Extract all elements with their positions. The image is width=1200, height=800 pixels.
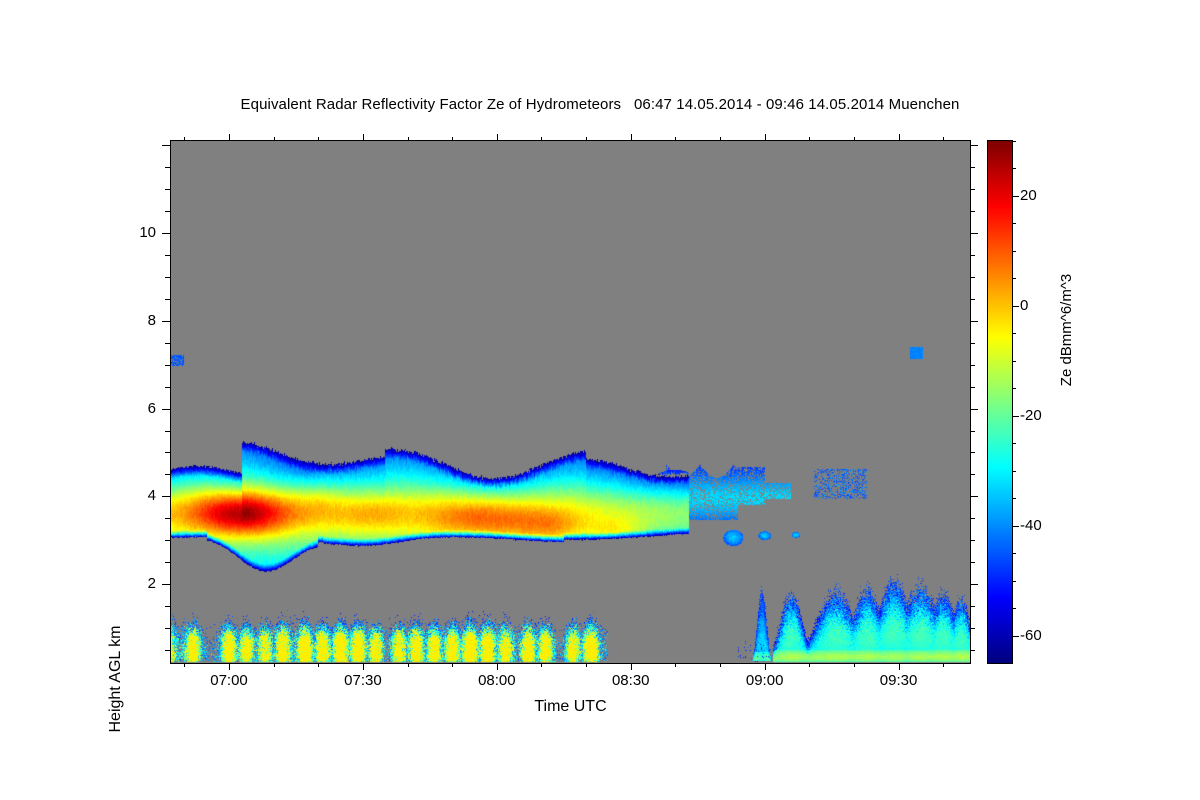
x-axis-minor-tick [586,137,587,141]
colorbar-minor-tick [1012,278,1016,279]
colorbar-minor-tick [1012,141,1016,142]
x-axis-minor-tick [318,137,319,141]
y-axis-minor-tick [970,452,975,453]
colorbar-tick-label: -60 [1020,627,1080,644]
y-axis-minor-tick [970,299,975,300]
x-axis-major-tick [497,134,498,141]
x-axis-major-tick [363,134,364,141]
y-axis-major-tick [162,233,170,234]
y-axis-major-tick [162,409,170,410]
y-axis-minor-tick [165,628,170,629]
y-axis-minor-tick [165,452,170,453]
y-axis-minor-tick [165,277,170,278]
y-axis-tick-label: 6 [116,400,156,417]
x-axis-minor-tick [675,137,676,141]
x-axis-major-tick [631,134,632,141]
y-axis-minor-tick [970,431,975,432]
y-axis-major-tick [970,496,978,497]
x-axis-minor-tick [809,137,810,141]
x-axis-minor-tick [318,663,319,667]
y-axis-minor-tick [970,255,975,256]
y-axis-title: Height AGL km [107,579,125,779]
x-axis-tick-label: 08:00 [452,672,542,689]
y-axis-minor-tick [970,277,975,278]
radar-heatmap-plot [170,140,971,664]
y-axis-minor-tick [970,474,975,475]
colorbar-minor-tick [1012,388,1016,389]
x-axis-major-tick [899,134,900,141]
y-axis-minor-tick [165,343,170,344]
y-axis-minor-tick [970,343,975,344]
y-axis-minor-tick [165,518,170,519]
y-axis-tick-label: 8 [116,312,156,329]
x-axis-tick-label: 09:00 [720,672,810,689]
x-axis-minor-tick [943,663,944,667]
y-axis-minor-tick [165,431,170,432]
y-axis-minor-tick [970,365,975,366]
x-axis-major-tick [899,663,900,670]
y-axis-minor-tick [165,540,170,541]
colorbar-major-tick [1012,636,1019,637]
x-axis-minor-tick [675,663,676,667]
y-axis-minor-tick [165,387,170,388]
x-axis-major-tick [765,663,766,670]
colorbar-minor-tick [1012,553,1016,554]
x-axis-minor-tick [274,137,275,141]
x-axis-minor-tick [452,137,453,141]
x-axis-tick-label: 08:30 [586,672,676,689]
colorbar-minor-tick [1012,168,1016,169]
y-axis-major-tick [970,321,978,322]
colorbar-major-tick [1012,196,1019,197]
y-axis-minor-tick [165,474,170,475]
colorbar-title: Ze dBmm^6/m^3 [1058,200,1075,460]
x-axis-minor-tick [720,663,721,667]
x-axis-minor-tick [541,663,542,667]
x-axis-tick-label: 07:00 [184,672,274,689]
x-axis-major-tick [229,663,230,670]
x-axis-major-tick [765,134,766,141]
y-axis-minor-tick [970,518,975,519]
colorbar-minor-tick [1012,443,1016,444]
y-axis-minor-tick [165,255,170,256]
y-axis-minor-tick [970,387,975,388]
x-axis-minor-tick [274,663,275,667]
x-axis-minor-tick [854,663,855,667]
colorbar-gradient [988,141,1012,663]
y-axis-minor-tick [970,650,975,651]
colorbar-tick-label: -40 [1020,517,1080,534]
colorbar-major-tick [1012,306,1019,307]
x-axis-minor-tick [854,137,855,141]
y-axis-major-tick [970,409,978,410]
heatmap-canvas [171,141,970,663]
y-axis-tick-label: 4 [116,487,156,504]
x-axis-tick-label: 07:30 [318,672,408,689]
y-axis-minor-tick [970,540,975,541]
x-axis-minor-tick [809,663,810,667]
colorbar-minor-tick [1012,251,1016,252]
x-axis-major-tick [363,663,364,670]
y-axis-tick-label: 10 [116,224,156,241]
y-axis-minor-tick [970,167,975,168]
y-axis-major-tick [162,496,170,497]
x-axis-minor-tick [408,137,409,141]
chart-title: Equivalent Radar Reflectivity Factor Ze … [0,96,1200,113]
x-axis-minor-tick [586,663,587,667]
x-axis-minor-tick [541,137,542,141]
x-axis-title: Time UTC [170,698,971,716]
y-axis-minor-tick [970,189,975,190]
colorbar-major-tick [1012,526,1019,527]
y-axis-major-tick [970,145,978,146]
colorbar-minor-tick [1012,333,1016,334]
x-axis-minor-tick [943,137,944,141]
colorbar-minor-tick [1012,581,1016,582]
y-axis-major-tick [162,321,170,322]
colorbar-major-tick [1012,416,1019,417]
y-axis-minor-tick [165,189,170,190]
y-axis-minor-tick [970,562,975,563]
x-axis-major-tick [631,663,632,670]
y-axis-minor-tick [165,211,170,212]
x-axis-minor-tick [184,663,185,667]
y-axis-minor-tick [165,650,170,651]
y-axis-major-tick [162,145,170,146]
x-axis-major-tick [229,134,230,141]
x-axis-minor-tick [184,137,185,141]
x-axis-minor-tick [408,663,409,667]
colorbar-minor-tick [1012,608,1016,609]
y-axis-minor-tick [970,211,975,212]
y-axis-major-tick [970,233,978,234]
y-axis-minor-tick [165,167,170,168]
x-axis-tick-label: 09:30 [854,672,944,689]
x-axis-major-tick [497,663,498,670]
colorbar-minor-tick [1012,361,1016,362]
y-axis-minor-tick [165,606,170,607]
colorbar-minor-tick [1012,498,1016,499]
colorbar-minor-tick [1012,471,1016,472]
y-axis-minor-tick [165,299,170,300]
y-axis-minor-tick [970,606,975,607]
y-axis-minor-tick [165,365,170,366]
y-axis-minor-tick [970,628,975,629]
x-axis-minor-tick [720,137,721,141]
colorbar-minor-tick [1012,223,1016,224]
y-axis-minor-tick [165,562,170,563]
y-axis-major-tick [162,584,170,585]
colorbar [987,140,1013,664]
y-axis-major-tick [970,584,978,585]
x-axis-minor-tick [452,663,453,667]
